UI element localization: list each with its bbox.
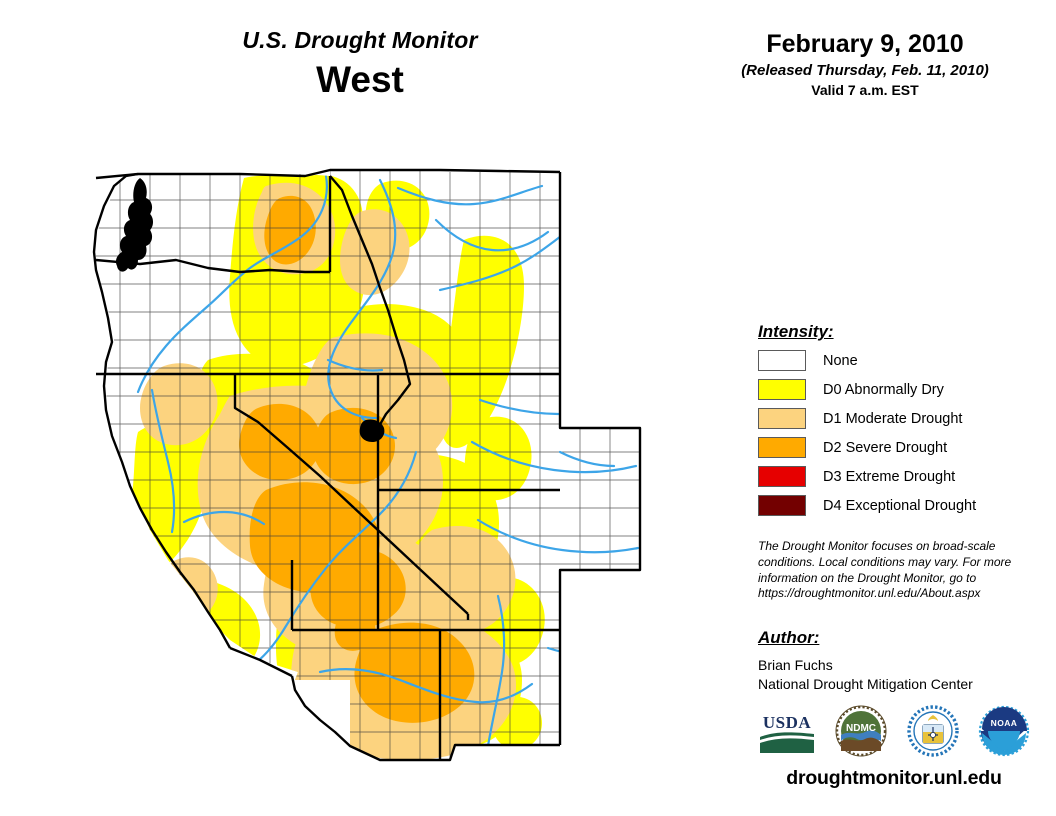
site-url[interactable]: droughtmonitor.unl.edu bbox=[758, 767, 1030, 790]
legend-swatch-d0 bbox=[758, 379, 806, 400]
legend-item-d4[interactable]: D4 Exceptional Drought bbox=[758, 494, 1028, 517]
usda-logo[interactable]: USDA bbox=[758, 707, 816, 755]
legend-swatch-d4 bbox=[758, 495, 806, 516]
legend-item-d2[interactable]: D2 Severe Drought bbox=[758, 436, 1028, 459]
released-date: (Released Thursday, Feb. 11, 2010) bbox=[700, 62, 1030, 79]
legend-label-d1: D1 Moderate Drought bbox=[823, 411, 962, 427]
ndmc-logo[interactable]: NDMC bbox=[835, 705, 887, 757]
usda-seal-logo[interactable] bbox=[907, 705, 959, 757]
valid-date: February 9, 2010 bbox=[700, 30, 1030, 59]
legend-item-d0[interactable]: D0 Abnormally Dry bbox=[758, 378, 1028, 401]
legend-swatch-d3 bbox=[758, 466, 806, 487]
legend-swatch-none bbox=[758, 350, 806, 371]
legend-label-d3: D3 Extreme Drought bbox=[823, 469, 955, 485]
legend-label-none: None bbox=[823, 353, 858, 369]
svg-text:NDMC: NDMC bbox=[846, 723, 876, 734]
legend: Intensity: None D0 Abnormally Dry D1 Mod… bbox=[758, 322, 1028, 523]
disclaimer: The Drought Monitor focuses on broad-sca… bbox=[758, 539, 1020, 602]
legend-item-d3[interactable]: D3 Extreme Drought bbox=[758, 465, 1028, 488]
region-title: West bbox=[150, 59, 570, 102]
page-title: U.S. Drought Monitor bbox=[150, 28, 570, 53]
drought-map[interactable] bbox=[80, 160, 720, 780]
author-heading: Author: bbox=[758, 628, 1028, 648]
disclaimer-line-1: The Drought Monitor focuses on broad-sca… bbox=[758, 539, 1020, 555]
legend-item-d1[interactable]: D1 Moderate Drought bbox=[758, 407, 1028, 430]
date-block: February 9, 2010 (Released Thursday, Feb… bbox=[700, 30, 1030, 98]
drought-map-svg[interactable] bbox=[80, 160, 720, 780]
legend-swatch-d1 bbox=[758, 408, 806, 429]
svg-text:NOAA: NOAA bbox=[991, 718, 1018, 728]
logo-row: USDA NDMC NOAA bbox=[758, 703, 1030, 759]
author-organization: National Drought Mitigation Center bbox=[758, 675, 1028, 694]
legend-label-d4: D4 Exceptional Drought bbox=[823, 498, 976, 514]
valid-time: Valid 7 a.m. EST bbox=[700, 82, 1030, 98]
author-name: Brian Fuchs bbox=[758, 656, 1028, 675]
legend-item-none[interactable]: None bbox=[758, 349, 1028, 372]
legend-label-d2: D2 Severe Drought bbox=[823, 440, 947, 456]
legend-swatch-d2 bbox=[758, 437, 806, 458]
svg-text:USDA: USDA bbox=[763, 713, 812, 732]
legend-label-d0: D0 Abnormally Dry bbox=[823, 382, 944, 398]
disclaimer-line-2: conditions. Local conditions may vary. F… bbox=[758, 555, 1020, 571]
noaa-logo[interactable]: NOAA bbox=[978, 705, 1030, 757]
disclaimer-line-3: information on the Drought Monitor, go t… bbox=[758, 571, 1020, 587]
legend-title: Intensity: bbox=[758, 322, 1028, 342]
title-block: U.S. Drought Monitor West bbox=[150, 28, 570, 102]
disclaimer-link[interactable]: https://droughtmonitor.unl.edu/About.asp… bbox=[758, 586, 1020, 602]
author-block: Author: Brian Fuchs National Drought Mit… bbox=[758, 628, 1028, 694]
